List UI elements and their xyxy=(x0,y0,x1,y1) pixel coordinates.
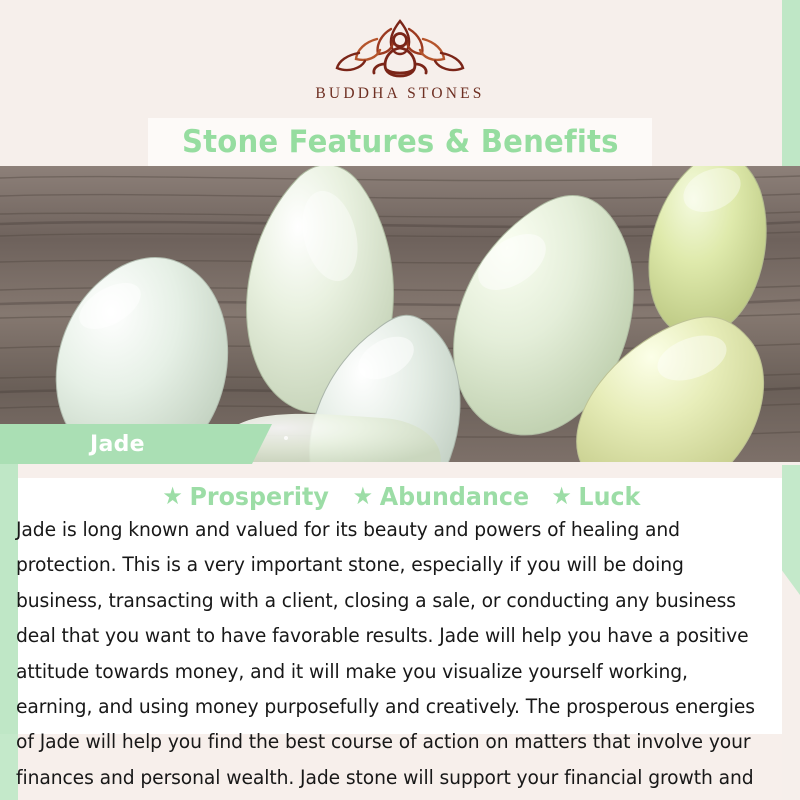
page-title: Stone Features & Benefits xyxy=(182,124,619,160)
content-top-strip xyxy=(18,464,782,478)
stone-photo xyxy=(0,166,800,462)
jade-stones-illustration xyxy=(0,166,800,462)
stone-name-banner-tail xyxy=(252,424,272,464)
benefits-row: ★ Prosperity ★ Abundance ★ Luck xyxy=(18,478,782,514)
star-icon: ★ xyxy=(551,484,571,508)
star-icon: ★ xyxy=(162,484,182,508)
benefit-label: Prosperity xyxy=(189,482,328,511)
brand-header: BUDDHA STONES xyxy=(0,0,800,118)
description-paragraph: Jade is long known and valued for its be… xyxy=(16,512,761,800)
stone-name-banner: Jade xyxy=(0,424,252,464)
poster-root: BUDDHA STONES Stone Features & Benefits xyxy=(0,0,800,800)
benefit-item: ★ Luck xyxy=(551,482,640,511)
benefit-label: Abundance xyxy=(380,482,529,511)
benefit-item: ★ Prosperity xyxy=(162,482,328,511)
lotus-meditation-icon xyxy=(329,15,471,83)
title-banner: Stone Features & Benefits xyxy=(148,118,652,166)
benefit-item: ★ Abundance xyxy=(353,482,529,511)
stone-name-label: Jade xyxy=(90,432,145,457)
benefit-label: Luck xyxy=(578,482,640,511)
star-icon: ★ xyxy=(353,484,373,508)
brand-wordmark: BUDDHA STONES xyxy=(315,85,484,103)
